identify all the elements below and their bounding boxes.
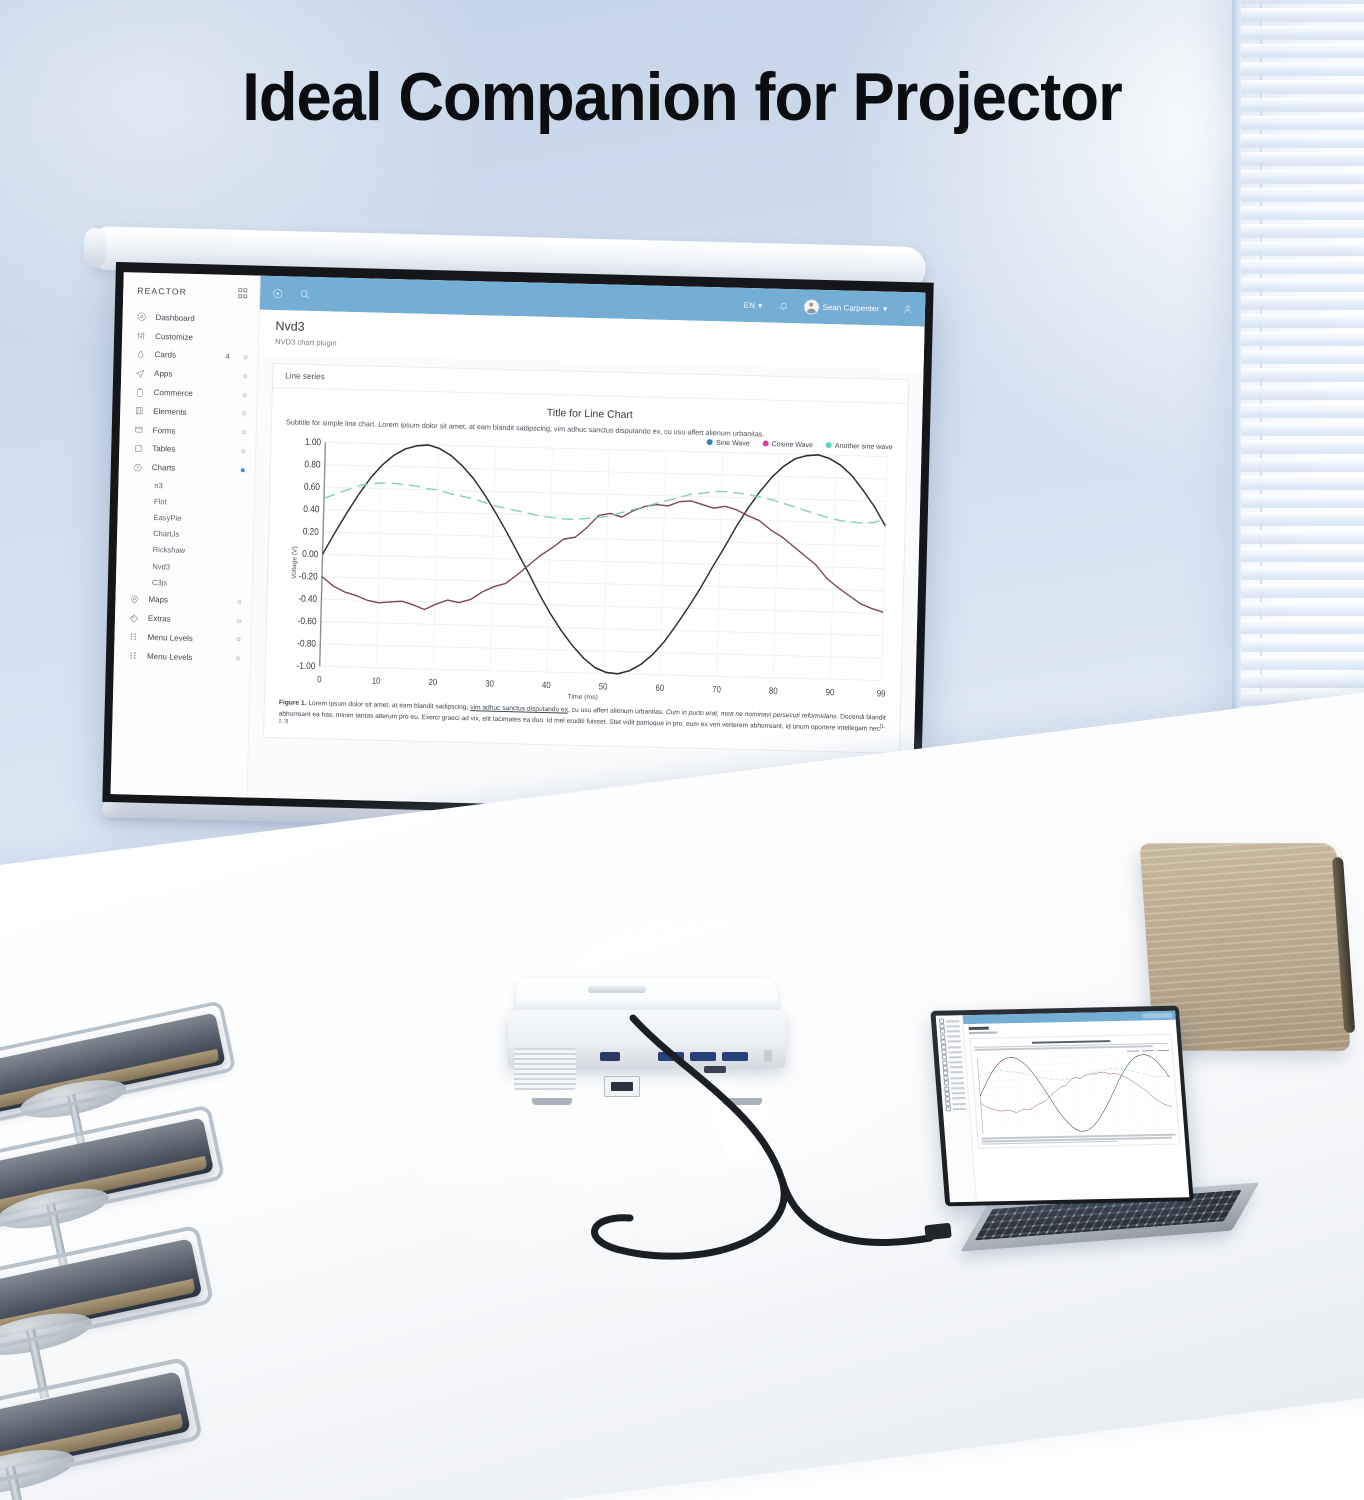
sidebar-item-label: Menu Levels bbox=[147, 633, 227, 644]
caption-text-2: , cu usu affert alienum urbanitas. bbox=[568, 707, 666, 716]
sidebar-item-dot bbox=[241, 449, 245, 453]
svg-text:80: 80 bbox=[769, 686, 778, 697]
legend-item-sine[interactable]: Sine Wave bbox=[707, 439, 750, 448]
chart-card: Line series Title for Line Chart Subtitl… bbox=[263, 363, 909, 754]
svg-text:-1.00: -1.00 bbox=[297, 661, 316, 672]
legend-label: Sine Wave bbox=[716, 440, 750, 448]
bell-icon[interactable] bbox=[775, 298, 790, 313]
table-icon bbox=[133, 443, 143, 453]
caption-label: Figure 1. bbox=[279, 700, 307, 708]
projector-foot-left bbox=[532, 1098, 572, 1105]
blind-slat bbox=[1238, 332, 1364, 346]
svg-text:40: 40 bbox=[542, 680, 551, 691]
sidebar-item-dot bbox=[237, 619, 241, 623]
svg-text:-0.40: -0.40 bbox=[298, 593, 317, 604]
power-socket bbox=[604, 1076, 640, 1097]
svg-text:0.20: 0.20 bbox=[303, 526, 319, 537]
projection-screen: REACTOR DashboardCustomizeCards4AppsComm… bbox=[88, 226, 938, 836]
projector-side-vents bbox=[514, 1048, 576, 1090]
legend-swatch bbox=[826, 442, 832, 448]
svg-text:-0.80: -0.80 bbox=[297, 638, 316, 649]
caption-underlined: vim adhuc sanctus disputando ex bbox=[470, 705, 568, 714]
search-icon[interactable] bbox=[297, 286, 312, 301]
sidebar-item-label: Cards bbox=[155, 350, 217, 361]
sidebar-item-badge: 4 bbox=[225, 352, 229, 361]
chevron-down-icon: ▾ bbox=[883, 304, 887, 313]
language-label: EN bbox=[744, 300, 756, 309]
vga-port-3 bbox=[722, 1052, 748, 1061]
chair bbox=[0, 1117, 214, 1236]
sidebar-item-dot bbox=[242, 412, 246, 416]
sidebar-item-label: Maps bbox=[148, 595, 228, 606]
laptop-lid bbox=[930, 1006, 1193, 1207]
sidebar-item-label: Forms bbox=[153, 426, 233, 437]
svg-text:30: 30 bbox=[485, 678, 494, 689]
laptop-body bbox=[963, 1020, 1189, 1202]
blind-slat bbox=[1238, 620, 1364, 634]
target-icon[interactable] bbox=[270, 285, 285, 300]
svg-text:99: 99 bbox=[877, 688, 886, 699]
window-icon bbox=[134, 425, 144, 435]
blind-slat bbox=[1238, 206, 1364, 220]
svg-text:90: 90 bbox=[826, 687, 835, 698]
projector-top-vent bbox=[588, 986, 646, 993]
sidebar-item-dot bbox=[237, 600, 241, 604]
blind-slat bbox=[1238, 512, 1364, 526]
projector-foot-right bbox=[722, 1098, 762, 1105]
legend-swatch bbox=[707, 439, 713, 445]
usb-port bbox=[764, 1050, 772, 1062]
blind-slat bbox=[1238, 638, 1364, 652]
brand-name: REACTOR bbox=[137, 286, 187, 297]
svg-text:10: 10 bbox=[372, 676, 381, 687]
sidebar-item-dot bbox=[244, 355, 248, 359]
blind-slat bbox=[1238, 296, 1364, 310]
blind-slat bbox=[1238, 26, 1364, 40]
caption-italic: Cum in purto erat, mea ne nominavi perse… bbox=[666, 710, 839, 721]
main-area: EN ▾ Sean Carpenter ▾ bbox=[247, 276, 925, 815]
bag-icon bbox=[135, 387, 145, 397]
sidebar-item-dot bbox=[243, 393, 247, 397]
legend-label: Cosine Wave bbox=[772, 441, 814, 449]
sidebar-item-dot bbox=[236, 637, 240, 641]
laptop-chart-card bbox=[969, 1033, 1180, 1149]
svg-text:60: 60 bbox=[655, 683, 664, 694]
brand-row: REACTOR bbox=[123, 281, 260, 310]
screen-roller-cap bbox=[83, 228, 106, 269]
svg-text:20: 20 bbox=[428, 677, 437, 688]
svg-text:0.60: 0.60 bbox=[304, 482, 320, 493]
sidebar-item-label: Dashboard bbox=[155, 313, 248, 324]
tag-icon bbox=[129, 613, 139, 623]
svg-text:0.00: 0.00 bbox=[302, 549, 318, 560]
blind-slat bbox=[1238, 566, 1364, 580]
content-area: Line series Title for Line Chart Subtitl… bbox=[247, 353, 923, 814]
droplet-icon bbox=[136, 349, 146, 359]
blind-slat bbox=[1238, 530, 1364, 544]
avatar bbox=[803, 299, 818, 314]
blind-slat bbox=[1238, 656, 1364, 670]
svg-text:-0.20: -0.20 bbox=[299, 571, 318, 582]
svg-text:1.00: 1.00 bbox=[305, 438, 321, 448]
sidebar-item-label: Tables bbox=[152, 444, 232, 455]
page-headline: Ideal Companion for Projector bbox=[48, 58, 1317, 136]
sidebar-item-dot bbox=[242, 430, 246, 434]
conference-room-scene: REACTOR DashboardCustomizeCards4AppsComm… bbox=[0, 0, 1364, 1500]
legend-item-cosine[interactable]: Cosine Wave bbox=[763, 440, 814, 449]
svg-text:70: 70 bbox=[712, 684, 721, 695]
blind-slat bbox=[1238, 314, 1364, 328]
sidebar-item-label: Charts bbox=[152, 463, 232, 474]
blind-slat bbox=[1238, 440, 1364, 454]
chart-plot: Voltage (V) 1.000.800.600.400.200.00-0.2… bbox=[279, 438, 892, 703]
svg-text:-0.60: -0.60 bbox=[298, 616, 317, 627]
blind-slat bbox=[1238, 548, 1364, 562]
book-icon bbox=[134, 406, 144, 416]
grid-icon[interactable] bbox=[238, 288, 248, 298]
chair bbox=[0, 1238, 202, 1363]
blind-slat bbox=[1238, 458, 1364, 472]
clock-icon bbox=[133, 462, 143, 472]
user-name: Sean Carpenter bbox=[822, 302, 879, 312]
laptop-sidebar-row bbox=[946, 1106, 966, 1112]
legend-label: Another sine wave bbox=[835, 443, 893, 451]
user-icon[interactable] bbox=[900, 301, 915, 316]
blind-slat bbox=[1238, 0, 1364, 4]
sidebar-item-label: Extras bbox=[148, 614, 228, 625]
sidebar-item-dot bbox=[243, 374, 247, 378]
blind-slat bbox=[1238, 224, 1364, 238]
sidebar-item-dot bbox=[241, 468, 245, 472]
language-selector[interactable]: EN ▾ bbox=[744, 300, 763, 309]
blind-slat bbox=[1238, 422, 1364, 436]
blind-slat bbox=[1238, 386, 1364, 400]
svg-text:0.80: 0.80 bbox=[304, 459, 320, 470]
blind-slat bbox=[1238, 584, 1364, 598]
hdmi-port bbox=[600, 1052, 620, 1061]
chair bbox=[0, 1371, 191, 1500]
sidebar-item-label: Menu Levels bbox=[147, 651, 227, 662]
vga-port-1 bbox=[658, 1052, 684, 1061]
blind-slat bbox=[1238, 8, 1364, 22]
blind-slat bbox=[1238, 674, 1364, 688]
svg-text:0: 0 bbox=[317, 674, 322, 685]
sliders-icon bbox=[136, 331, 146, 341]
screen-surface: REACTOR DashboardCustomizeCards4AppsComm… bbox=[102, 262, 933, 823]
dots-icon bbox=[128, 632, 138, 642]
blind-slat bbox=[1238, 404, 1364, 418]
legend-swatch bbox=[763, 440, 769, 446]
sidebar-item-label: Customize bbox=[155, 332, 248, 343]
compass-icon bbox=[136, 312, 146, 322]
projector bbox=[508, 978, 786, 1074]
y-axis-label: Voltage (V) bbox=[291, 547, 299, 580]
blind-slat bbox=[1238, 44, 1364, 58]
laptop-screen bbox=[936, 1011, 1190, 1202]
blind-slat bbox=[1238, 188, 1364, 202]
serial-port bbox=[704, 1066, 726, 1073]
blind-slat bbox=[1238, 278, 1364, 292]
blind-slat bbox=[1238, 368, 1364, 382]
sidebar-item-label: Apps bbox=[154, 369, 234, 380]
dashboard-app: REACTOR DashboardCustomizeCards4AppsComm… bbox=[111, 272, 926, 814]
pin-icon bbox=[129, 594, 139, 604]
blind-slat bbox=[1238, 134, 1364, 148]
line-chart-svg: 1.000.800.600.400.200.00-0.20-0.40-0.60-… bbox=[279, 438, 892, 703]
sidebar-item-dot bbox=[236, 656, 240, 660]
blind-slat bbox=[1238, 350, 1364, 364]
blind-slat bbox=[1238, 242, 1364, 256]
user-menu[interactable]: Sean Carpenter ▾ bbox=[803, 299, 887, 316]
sidebar-item-label: Commerce bbox=[154, 388, 234, 399]
blind-slat bbox=[1238, 170, 1364, 184]
dots-icon bbox=[128, 651, 138, 661]
blind-slat bbox=[1238, 260, 1364, 274]
laptop-line-chart bbox=[975, 1053, 1175, 1135]
legend-item-another[interactable]: Another sine wave bbox=[826, 442, 893, 451]
sidebar-item-menu-levels[interactable]: Menu Levels bbox=[114, 646, 250, 668]
blind-slat bbox=[1238, 152, 1364, 166]
sidebar: REACTOR DashboardCustomizeCards4AppsComm… bbox=[111, 272, 261, 797]
svg-text:50: 50 bbox=[599, 681, 608, 692]
card-body: Title for Line Chart Subtitle for simple… bbox=[264, 388, 908, 753]
sidebar-item-label: Elements bbox=[153, 407, 233, 418]
chevron-down-icon: ▾ bbox=[758, 301, 763, 310]
laptop bbox=[938, 1008, 1238, 1258]
chair-group-left bbox=[0, 1040, 430, 1500]
send-icon bbox=[135, 368, 145, 378]
svg-text:0.40: 0.40 bbox=[303, 504, 319, 515]
blind-slat bbox=[1238, 494, 1364, 508]
blind-slat bbox=[1238, 476, 1364, 490]
caption-text-1: Lorem ipsum dolor sit amet, at eam bland… bbox=[306, 700, 470, 711]
vga-port-2 bbox=[690, 1052, 716, 1061]
laptop-main bbox=[963, 1011, 1190, 1202]
projector-body bbox=[508, 1010, 786, 1068]
blind-slat bbox=[1238, 602, 1364, 616]
